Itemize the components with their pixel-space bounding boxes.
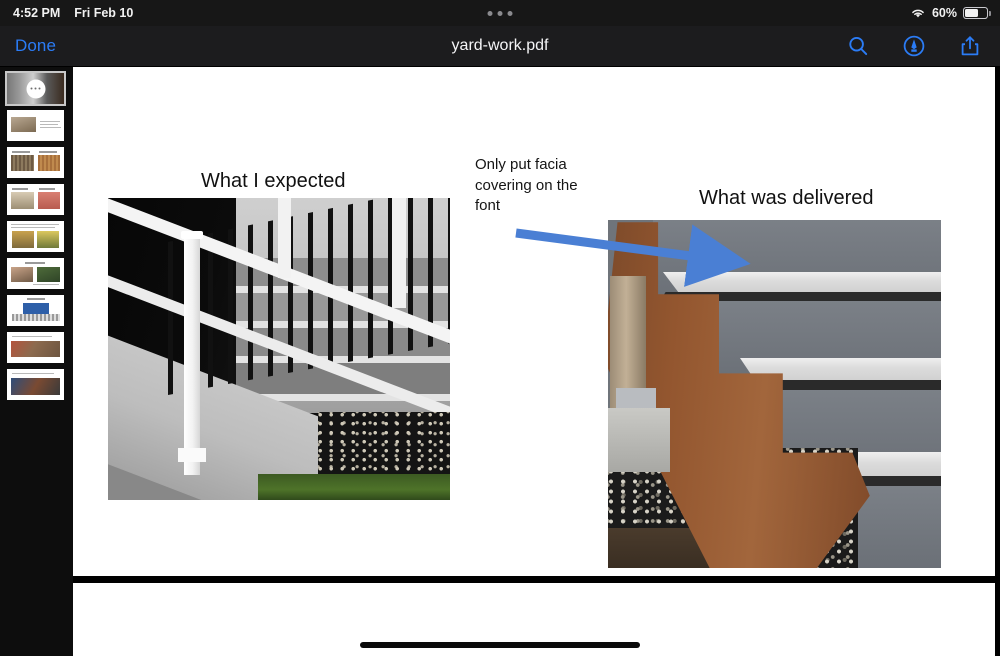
status-bar: 4:52 PM Fri Feb 10 60% <box>0 0 1000 26</box>
sidebar-thumbnail-1[interactable] <box>7 73 64 104</box>
thumbnail-preview <box>7 110 64 141</box>
status-bar-left: 4:52 PM Fri Feb 10 <box>13 6 133 20</box>
share-icon[interactable] <box>958 34 982 58</box>
thumbnail-preview <box>7 147 64 178</box>
more-dots-badge[interactable] <box>26 79 45 98</box>
multitask-dot <box>508 11 513 16</box>
thumbnail-preview <box>7 332 64 363</box>
multitask-dot <box>488 11 493 16</box>
thumbnail-preview <box>7 369 64 400</box>
markup-pen-icon[interactable] <box>902 34 926 58</box>
thumbnail-preview <box>7 184 64 215</box>
page-thumbnail-sidebar[interactable] <box>0 67 73 656</box>
sidebar-thumbnail-6[interactable] <box>7 258 64 289</box>
wifi-icon <box>910 7 926 19</box>
sidebar-thumbnail-8[interactable] <box>7 332 64 363</box>
thumbnail-preview <box>7 258 64 289</box>
status-bar-right: 60% <box>910 6 988 20</box>
sidebar-thumbnail-2[interactable] <box>7 110 64 141</box>
battery-icon <box>963 7 988 19</box>
photo-delivered-stairs <box>608 220 941 568</box>
badge-dot <box>34 87 36 89</box>
thumbnail-preview <box>7 295 64 326</box>
sidebar-thumbnail-9[interactable] <box>7 369 64 400</box>
home-indicator[interactable] <box>360 642 640 648</box>
thumbnail-preview <box>7 221 64 252</box>
multitask-dot <box>498 11 503 16</box>
document-title: yard-work.pdf <box>452 37 549 55</box>
heading-what-i-expected: What I expected <box>201 170 346 193</box>
done-button[interactable]: Done <box>15 36 56 56</box>
pdf-toolbar: Done yard-work.pdf <box>0 26 1000 67</box>
badge-dot <box>38 87 40 89</box>
status-date: Fri Feb 10 <box>74 6 133 20</box>
search-icon[interactable] <box>846 34 870 58</box>
battery-percent-label: 60% <box>932 6 957 20</box>
heading-what-was-delivered: What was delivered <box>699 187 874 210</box>
sidebar-thumbnail-7[interactable] <box>7 295 64 326</box>
badge-dot <box>30 87 32 89</box>
status-time: 4:52 PM <box>13 6 60 20</box>
toolbar-actions <box>846 34 982 58</box>
ipad-pdf-viewer-screen: 4:52 PM Fri Feb 10 60% Done yard-wor <box>0 0 1000 656</box>
photo-expected-stairs <box>108 198 450 500</box>
sidebar-thumbnail-4[interactable] <box>7 184 64 215</box>
battery-fill <box>965 9 978 16</box>
pdf-document-scroll-area[interactable]: What I expected What was delivered Only … <box>73 67 1000 656</box>
sidebar-thumbnail-3[interactable] <box>7 147 64 178</box>
annotation-note-text: Only put facia covering on the font <box>475 155 593 217</box>
pdf-page-1: What I expected What was delivered Only … <box>73 67 995 576</box>
sidebar-thumbnail-5[interactable] <box>7 221 64 252</box>
multitasking-dots-handle[interactable] <box>488 11 513 16</box>
